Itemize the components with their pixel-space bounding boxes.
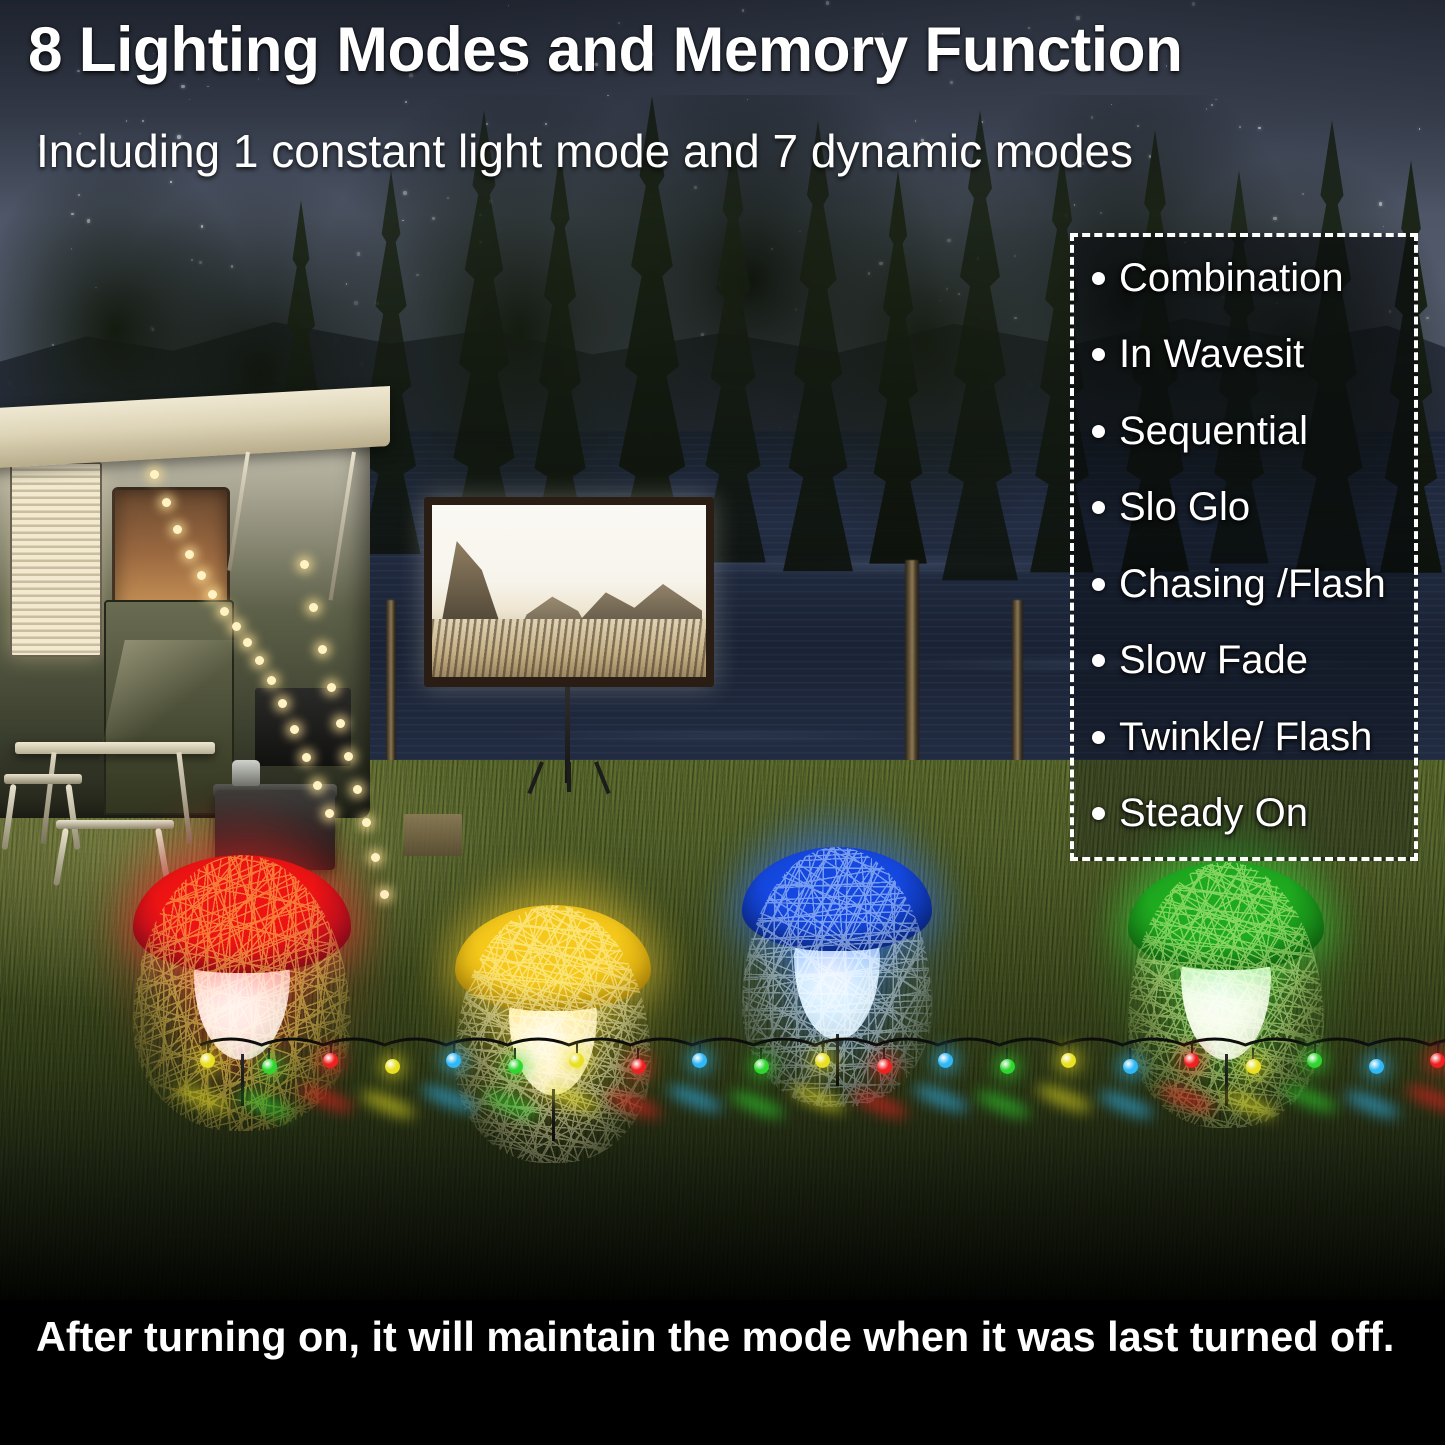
fairy-light-bulb bbox=[232, 622, 241, 631]
bullet-icon bbox=[1092, 501, 1105, 514]
bullet-icon bbox=[1092, 272, 1105, 285]
lighting-mode-label: Sequential bbox=[1119, 409, 1308, 454]
lighting-mode-label: Slow Fade bbox=[1119, 638, 1308, 683]
string-light-bulb bbox=[262, 1059, 277, 1074]
bullet-icon bbox=[1092, 578, 1105, 591]
lighting-mode-item: Slow Fade bbox=[1092, 638, 1432, 683]
string-light-bulb bbox=[508, 1059, 523, 1074]
page-subtitle: Including 1 constant light mode and 7 dy… bbox=[36, 124, 1356, 178]
fairy-light-bulb bbox=[371, 853, 380, 862]
string-light-row bbox=[200, 1035, 1430, 1075]
rv-window-blind bbox=[10, 462, 102, 657]
fairy-light-bulb bbox=[336, 719, 345, 728]
footer-caption: After turning on, it will maintain the m… bbox=[36, 1313, 1405, 1361]
bullet-icon bbox=[1092, 807, 1105, 820]
string-light-bulb bbox=[1123, 1059, 1138, 1074]
projector-screen-leg bbox=[567, 762, 571, 792]
lighting-mode-label: In Wavesit bbox=[1119, 332, 1304, 377]
string-light-bulb bbox=[692, 1053, 707, 1068]
lighting-modes-list: CombinationIn WavesitSequentialSlo GloCh… bbox=[1092, 242, 1432, 852]
fairy-light-bulb bbox=[220, 607, 229, 616]
string-light-bulb bbox=[938, 1053, 953, 1068]
lighting-mode-label: Combination bbox=[1119, 256, 1344, 301]
fairy-light-bulb bbox=[318, 645, 327, 654]
string-light-bulb bbox=[446, 1053, 461, 1068]
camp-table bbox=[15, 742, 215, 754]
fairy-light-bulb bbox=[267, 676, 276, 685]
screen-foreground bbox=[432, 619, 706, 677]
string-light-bulb bbox=[631, 1059, 646, 1074]
lighting-mode-item: Combination bbox=[1092, 256, 1432, 301]
lighting-mode-item: In Wavesit bbox=[1092, 332, 1432, 377]
fairy-light-bulb bbox=[302, 753, 311, 762]
fairy-light-bulb bbox=[300, 560, 309, 569]
bullet-icon bbox=[1092, 654, 1105, 667]
fairy-light-bulb bbox=[150, 470, 159, 479]
string-light-bulb bbox=[1246, 1059, 1261, 1074]
string-light-bulb bbox=[385, 1059, 400, 1074]
lighting-mode-label: Chasing /Flash bbox=[1119, 562, 1386, 607]
bullet-icon bbox=[1092, 731, 1105, 744]
string-light-bulb bbox=[1369, 1059, 1384, 1074]
string-light-bulb bbox=[877, 1059, 892, 1074]
fairy-light-bulb bbox=[309, 603, 318, 612]
camp-chair-seat bbox=[4, 774, 82, 784]
lighting-mode-item: Chasing /Flash bbox=[1092, 562, 1432, 607]
fairy-light-bulb bbox=[327, 683, 336, 692]
lighting-mode-label: Steady On bbox=[1119, 791, 1308, 836]
lighting-mode-label: Twinkle/ Flash bbox=[1119, 715, 1372, 760]
string-light-bulb bbox=[1307, 1053, 1322, 1068]
lighting-mode-item: Sequential bbox=[1092, 409, 1432, 454]
string-light-bulb bbox=[1430, 1053, 1445, 1068]
string-light-bulb bbox=[1184, 1053, 1199, 1068]
lighting-mode-label: Slo Glo bbox=[1119, 485, 1250, 530]
string-light-bulb bbox=[754, 1059, 769, 1074]
string-light-bulb bbox=[323, 1053, 338, 1068]
fairy-light-bulb bbox=[185, 550, 194, 559]
string-light-bulb bbox=[815, 1053, 830, 1068]
product-feature-poster: 8 Lighting Modes and Memory Function Inc… bbox=[0, 0, 1445, 1445]
lighting-mode-item: Twinkle/ Flash bbox=[1092, 715, 1432, 760]
fairy-light-bulb bbox=[362, 818, 371, 827]
string-light-bulb bbox=[1000, 1059, 1015, 1074]
kettle-icon bbox=[232, 760, 260, 786]
projector-screen-image bbox=[432, 505, 706, 677]
lighting-mode-item: Steady On bbox=[1092, 791, 1432, 836]
fairy-light-bulb bbox=[162, 498, 171, 507]
fairy-light-bulb bbox=[255, 656, 264, 665]
lighting-mode-item: Slo Glo bbox=[1092, 485, 1432, 530]
wooden-crate bbox=[404, 814, 462, 856]
string-light-bulb bbox=[200, 1053, 215, 1068]
string-light-bulb bbox=[1061, 1053, 1076, 1068]
string-light-bulb bbox=[569, 1053, 584, 1068]
page-title: 8 Lighting Modes and Memory Function bbox=[28, 14, 1407, 86]
bullet-icon bbox=[1092, 425, 1105, 438]
bullet-icon bbox=[1092, 348, 1105, 361]
